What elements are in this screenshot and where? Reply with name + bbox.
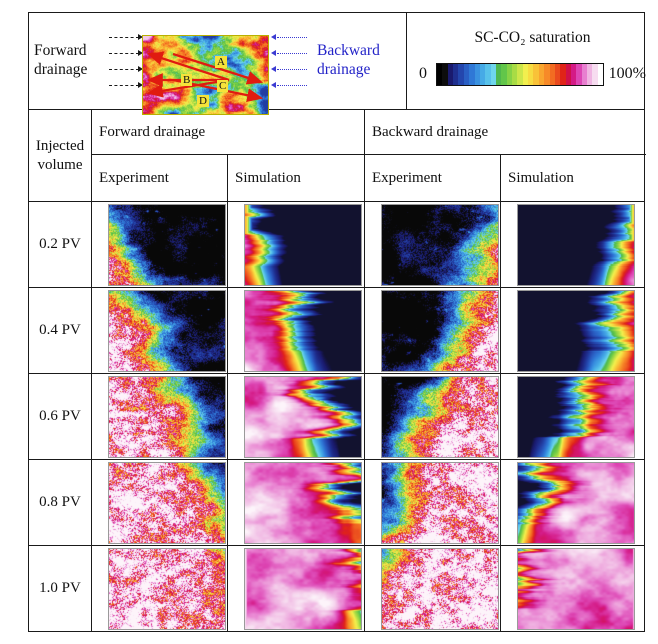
backward-arrow-2 bbox=[271, 46, 313, 62]
backward-drainage-line1: Backward bbox=[317, 41, 407, 60]
colorbar-title: SC-CO₂ saturation bbox=[419, 29, 646, 47]
grid-hline-r4 bbox=[29, 545, 644, 546]
backward-arrow-4 bbox=[271, 78, 313, 94]
backward-arrow-3 bbox=[271, 62, 313, 78]
panel-forward-experiment-image bbox=[109, 463, 225, 543]
panel-forward-experiment-image bbox=[109, 549, 225, 629]
colorbar: 0 100% bbox=[419, 61, 646, 91]
grid-hline-r3 bbox=[29, 459, 644, 460]
row-label-injected-volume: 0.8 PV bbox=[29, 459, 91, 545]
panel-forward-simulation bbox=[244, 462, 362, 544]
inset-label-d: D bbox=[197, 95, 209, 107]
row-label-injected-volume: 0.4 PV bbox=[29, 287, 91, 373]
panel-forward-experiment bbox=[108, 204, 226, 286]
panel-forward-experiment bbox=[108, 548, 226, 630]
figure-canvas: Forward drainage bbox=[0, 0, 658, 644]
column-header-forward-experiment: Experiment bbox=[99, 155, 225, 201]
panel-forward-simulation bbox=[244, 376, 362, 458]
panel-backward-experiment bbox=[381, 204, 499, 286]
inset-label-a: A bbox=[215, 56, 227, 68]
panel-backward-simulation bbox=[517, 290, 635, 372]
panel-backward-experiment-image bbox=[382, 205, 498, 285]
panel-forward-experiment bbox=[108, 376, 226, 458]
row-label-injected-volume: 0.6 PV bbox=[29, 373, 91, 459]
grid-hline-subheader bbox=[29, 201, 644, 202]
panel-forward-simulation-image bbox=[245, 463, 361, 543]
group-header-forward: Forward drainage bbox=[99, 110, 361, 154]
panel-forward-experiment-image bbox=[109, 377, 225, 457]
group-header-backward: Backward drainage bbox=[372, 110, 642, 154]
panel-backward-simulation bbox=[517, 462, 635, 544]
colorbar-gradient bbox=[436, 63, 604, 86]
panel-forward-experiment bbox=[108, 462, 226, 544]
panel-backward-simulation-image bbox=[518, 205, 634, 285]
panel-backward-experiment bbox=[381, 548, 499, 630]
injected-volume-line2: volume bbox=[38, 156, 83, 175]
figure-frame: Forward drainage bbox=[28, 12, 645, 632]
panel-backward-experiment bbox=[381, 462, 499, 544]
forward-drainage-line2: drainage bbox=[34, 60, 120, 79]
panel-forward-simulation-image bbox=[245, 549, 361, 629]
panel-forward-simulation-image bbox=[245, 205, 361, 285]
row-label-injected-volume: 0.2 PV bbox=[29, 201, 91, 287]
panel-backward-simulation-image bbox=[518, 291, 634, 371]
injected-volume-line1: Injected bbox=[36, 137, 84, 156]
panel-backward-simulation bbox=[517, 204, 635, 286]
legend-divider bbox=[406, 13, 407, 110]
column-header-backward-experiment: Experiment bbox=[372, 155, 498, 201]
panel-forward-experiment-image bbox=[109, 205, 225, 285]
panel-forward-experiment bbox=[108, 290, 226, 372]
backward-drainage-line2: drainage bbox=[317, 60, 407, 79]
colorbar-max-label: 100% bbox=[609, 65, 646, 83]
grid-vline-1 bbox=[91, 110, 92, 631]
forward-drainage-annotation: Forward drainage bbox=[34, 41, 120, 79]
panel-backward-simulation-image bbox=[518, 549, 634, 629]
backward-arrow-1 bbox=[271, 30, 313, 46]
panel-forward-simulation bbox=[244, 290, 362, 372]
panel-backward-simulation-image bbox=[518, 377, 634, 457]
backward-flow-arrows bbox=[271, 30, 313, 94]
colorbar-min-label: 0 bbox=[419, 65, 427, 83]
panel-backward-experiment-image bbox=[382, 549, 498, 629]
panel-backward-simulation bbox=[517, 548, 635, 630]
grid-hline-r1 bbox=[29, 287, 644, 288]
column-header-backward-simulation: Simulation bbox=[508, 155, 634, 201]
inset-label-c: C bbox=[217, 80, 228, 92]
backward-drainage-annotation: Backward drainage bbox=[317, 41, 407, 79]
panel-backward-experiment bbox=[381, 290, 499, 372]
panel-forward-simulation bbox=[244, 548, 362, 630]
grid-hline-r2 bbox=[29, 373, 644, 374]
inset-label-b: B bbox=[181, 74, 192, 86]
panel-backward-experiment-image bbox=[382, 463, 498, 543]
panel-forward-simulation bbox=[244, 204, 362, 286]
legend-band: Forward drainage bbox=[29, 13, 644, 110]
panel-forward-simulation-image bbox=[245, 291, 361, 371]
injected-volume-header: Injected volume bbox=[29, 110, 91, 201]
grid-vline-2 bbox=[227, 155, 228, 631]
rock-sample-inset: A B C D bbox=[142, 35, 269, 115]
grid-vline-3 bbox=[364, 110, 365, 631]
forward-drainage-line1: Forward bbox=[34, 41, 120, 60]
column-header-forward-simulation: Simulation bbox=[235, 155, 361, 201]
panel-forward-simulation-image bbox=[245, 377, 361, 457]
grid-vline-4 bbox=[500, 155, 501, 631]
panel-backward-simulation bbox=[517, 376, 635, 458]
panel-backward-experiment-image bbox=[382, 291, 498, 371]
panel-backward-simulation-image bbox=[518, 463, 634, 543]
results-table: Injected volume Forward drainage Backwar… bbox=[29, 110, 644, 631]
panel-forward-experiment-image bbox=[109, 291, 225, 371]
panel-backward-experiment-image bbox=[382, 377, 498, 457]
panel-backward-experiment bbox=[381, 376, 499, 458]
row-label-injected-volume: 1.0 PV bbox=[29, 545, 91, 631]
